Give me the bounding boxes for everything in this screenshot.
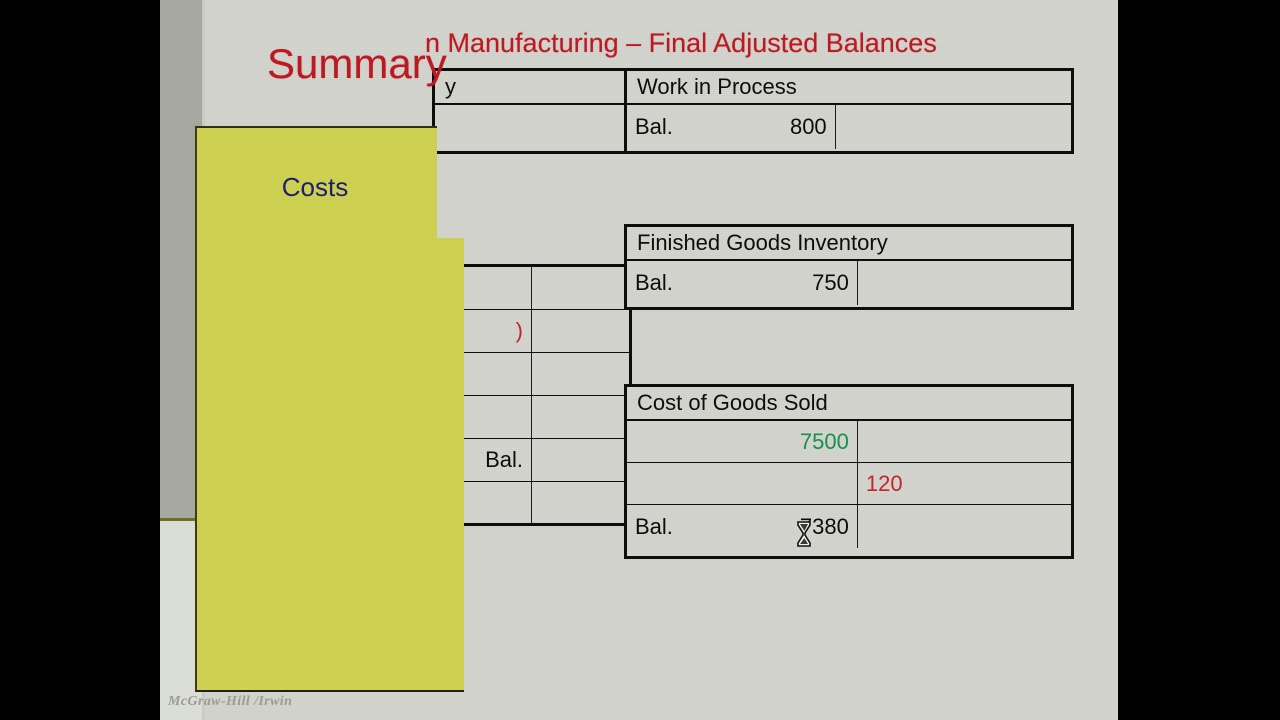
credit-cell bbox=[532, 439, 629, 481]
table-row: Bal. 750 bbox=[627, 261, 1071, 305]
credit-cell bbox=[532, 267, 629, 309]
overlay-lower-block bbox=[195, 238, 464, 692]
row-label: Bal. bbox=[635, 114, 673, 140]
letterbox-left bbox=[0, 0, 160, 720]
credit-cell bbox=[858, 421, 1071, 462]
credit-cell bbox=[532, 353, 629, 395]
debit-amount: 800 bbox=[790, 114, 827, 140]
credit-cell: 120 bbox=[858, 463, 1071, 504]
credit-cell bbox=[532, 396, 629, 438]
letterbox-right bbox=[1118, 0, 1280, 720]
overlay-label: Costs bbox=[195, 172, 435, 203]
debit-cell: Bal. 750 bbox=[627, 261, 858, 305]
t-account-raw-materials: y bbox=[432, 68, 632, 154]
debit-amount: ) bbox=[516, 318, 523, 344]
table-row: Bal. 800 bbox=[627, 105, 1071, 149]
row-label: Bal. bbox=[635, 514, 673, 540]
hourglass-busy-cursor bbox=[796, 521, 812, 547]
t-account-finished-goods-inventory: Finished Goods Inventory Bal. 750 bbox=[624, 224, 1074, 310]
debit-amount: 750 bbox=[812, 270, 849, 296]
t-account-cost-of-goods-sold: Cost of Goods Sold 7500 120 bbox=[624, 384, 1074, 559]
row-label: Bal. bbox=[485, 447, 523, 473]
table-row: 120 bbox=[627, 463, 1071, 505]
debit-cell: 7500 bbox=[627, 421, 858, 462]
t-account-title: Work in Process bbox=[627, 71, 1071, 105]
credit-cell bbox=[532, 482, 629, 523]
table-row bbox=[435, 267, 629, 310]
slide-title-overlay: n Manufacturing – Final Adjusted Balance… bbox=[425, 28, 1118, 59]
animation-overlay-shape: Costs bbox=[195, 126, 462, 690]
debit-amount: 7500 bbox=[800, 429, 849, 455]
credit-cell bbox=[836, 105, 1071, 149]
credit-cell bbox=[858, 505, 1071, 548]
table-row: Bal. bbox=[435, 439, 629, 482]
table-row bbox=[435, 482, 629, 523]
debit-cell: Bal. 7380 bbox=[627, 505, 858, 548]
video-player-screen: n Manufacturing – Final Adjusted Balance… bbox=[0, 0, 1280, 720]
debit-cell bbox=[627, 463, 858, 504]
page-title: Summary bbox=[267, 40, 447, 88]
credit-cell bbox=[532, 310, 629, 352]
publisher-logo: McGraw-Hill /Irwin bbox=[168, 694, 292, 710]
row-label: Bal. bbox=[635, 270, 673, 296]
table-row: 7500 bbox=[627, 421, 1071, 463]
debit-cell: Bal. 800 bbox=[627, 105, 836, 149]
table-row bbox=[435, 353, 629, 396]
t-account-work-in-process: Work in Process Bal. 800 bbox=[624, 68, 1074, 154]
t-account-title: y bbox=[435, 71, 629, 105]
table-row bbox=[435, 396, 629, 439]
table-row: Bal. 7380 bbox=[627, 505, 1071, 548]
table-row: ) bbox=[435, 310, 629, 353]
t-account-title: Finished Goods Inventory bbox=[627, 227, 1071, 261]
presentation-slide: n Manufacturing – Final Adjusted Balance… bbox=[160, 0, 1118, 720]
t-account-title: Cost of Goods Sold bbox=[627, 387, 1071, 421]
credit-cell bbox=[858, 261, 1071, 305]
